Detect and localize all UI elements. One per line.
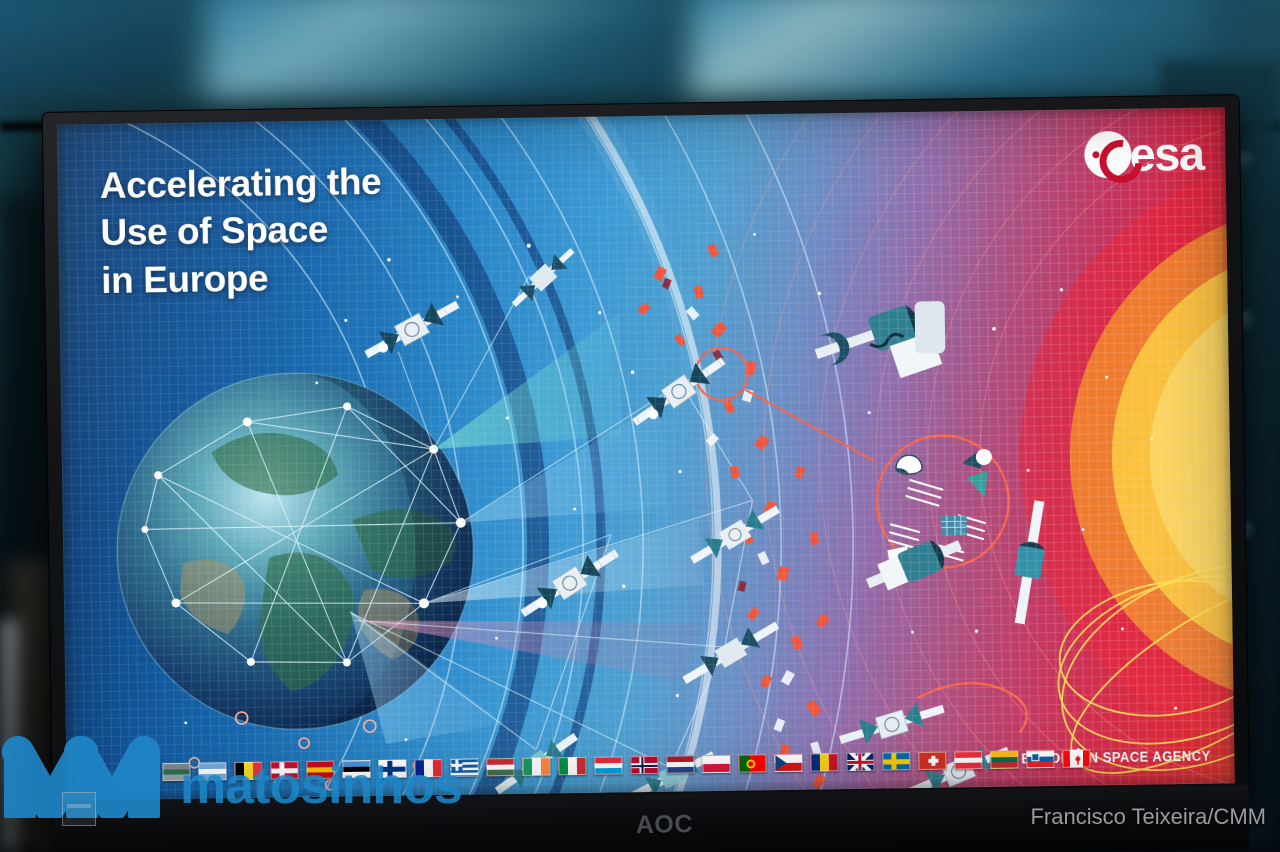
flag-luxembourg <box>594 756 622 774</box>
flag-canada <box>1062 749 1090 767</box>
flag-lithuania <box>990 751 1018 769</box>
flag-ireland <box>522 757 550 775</box>
flag-romania <box>810 753 838 771</box>
flag-hungary <box>486 758 514 776</box>
esa-logo: esa <box>1084 130 1204 179</box>
flag-switzerland <box>918 752 946 770</box>
flag-poland <box>702 755 730 773</box>
slide-title: Accelerating the Use of Space in Europe <box>99 158 383 304</box>
slide-grid-overlay-red <box>877 107 1235 788</box>
flag-austria <box>954 751 982 769</box>
flag-portugal <box>738 754 766 772</box>
flag-czech-republic <box>774 754 802 772</box>
photo-credit: Francisco Teixeira/CMM <box>1030 806 1266 828</box>
monitor-screen: Accelerating the Use of Space in Europe … <box>57 107 1235 800</box>
photo-scene: Accelerating the Use of Space in Europe … <box>0 0 1280 852</box>
flag-italy <box>558 757 586 775</box>
esa-mark-icon <box>1084 131 1132 179</box>
flag-slovenia <box>1026 750 1054 768</box>
background-panel-left <box>0 0 170 105</box>
esa-slide: Accelerating the Use of Space in Europe … <box>57 107 1235 800</box>
flag-united-kingdom <box>846 753 874 771</box>
watermark-badge <box>62 792 96 826</box>
aoc-brand-logo: AOC <box>609 809 719 841</box>
background-panel-center <box>205 0 665 116</box>
flag-norway <box>630 756 658 774</box>
matosinhos-wordmark: matosinhos <box>180 760 462 812</box>
flag-netherlands <box>666 755 694 773</box>
flag-sweden <box>882 752 910 770</box>
